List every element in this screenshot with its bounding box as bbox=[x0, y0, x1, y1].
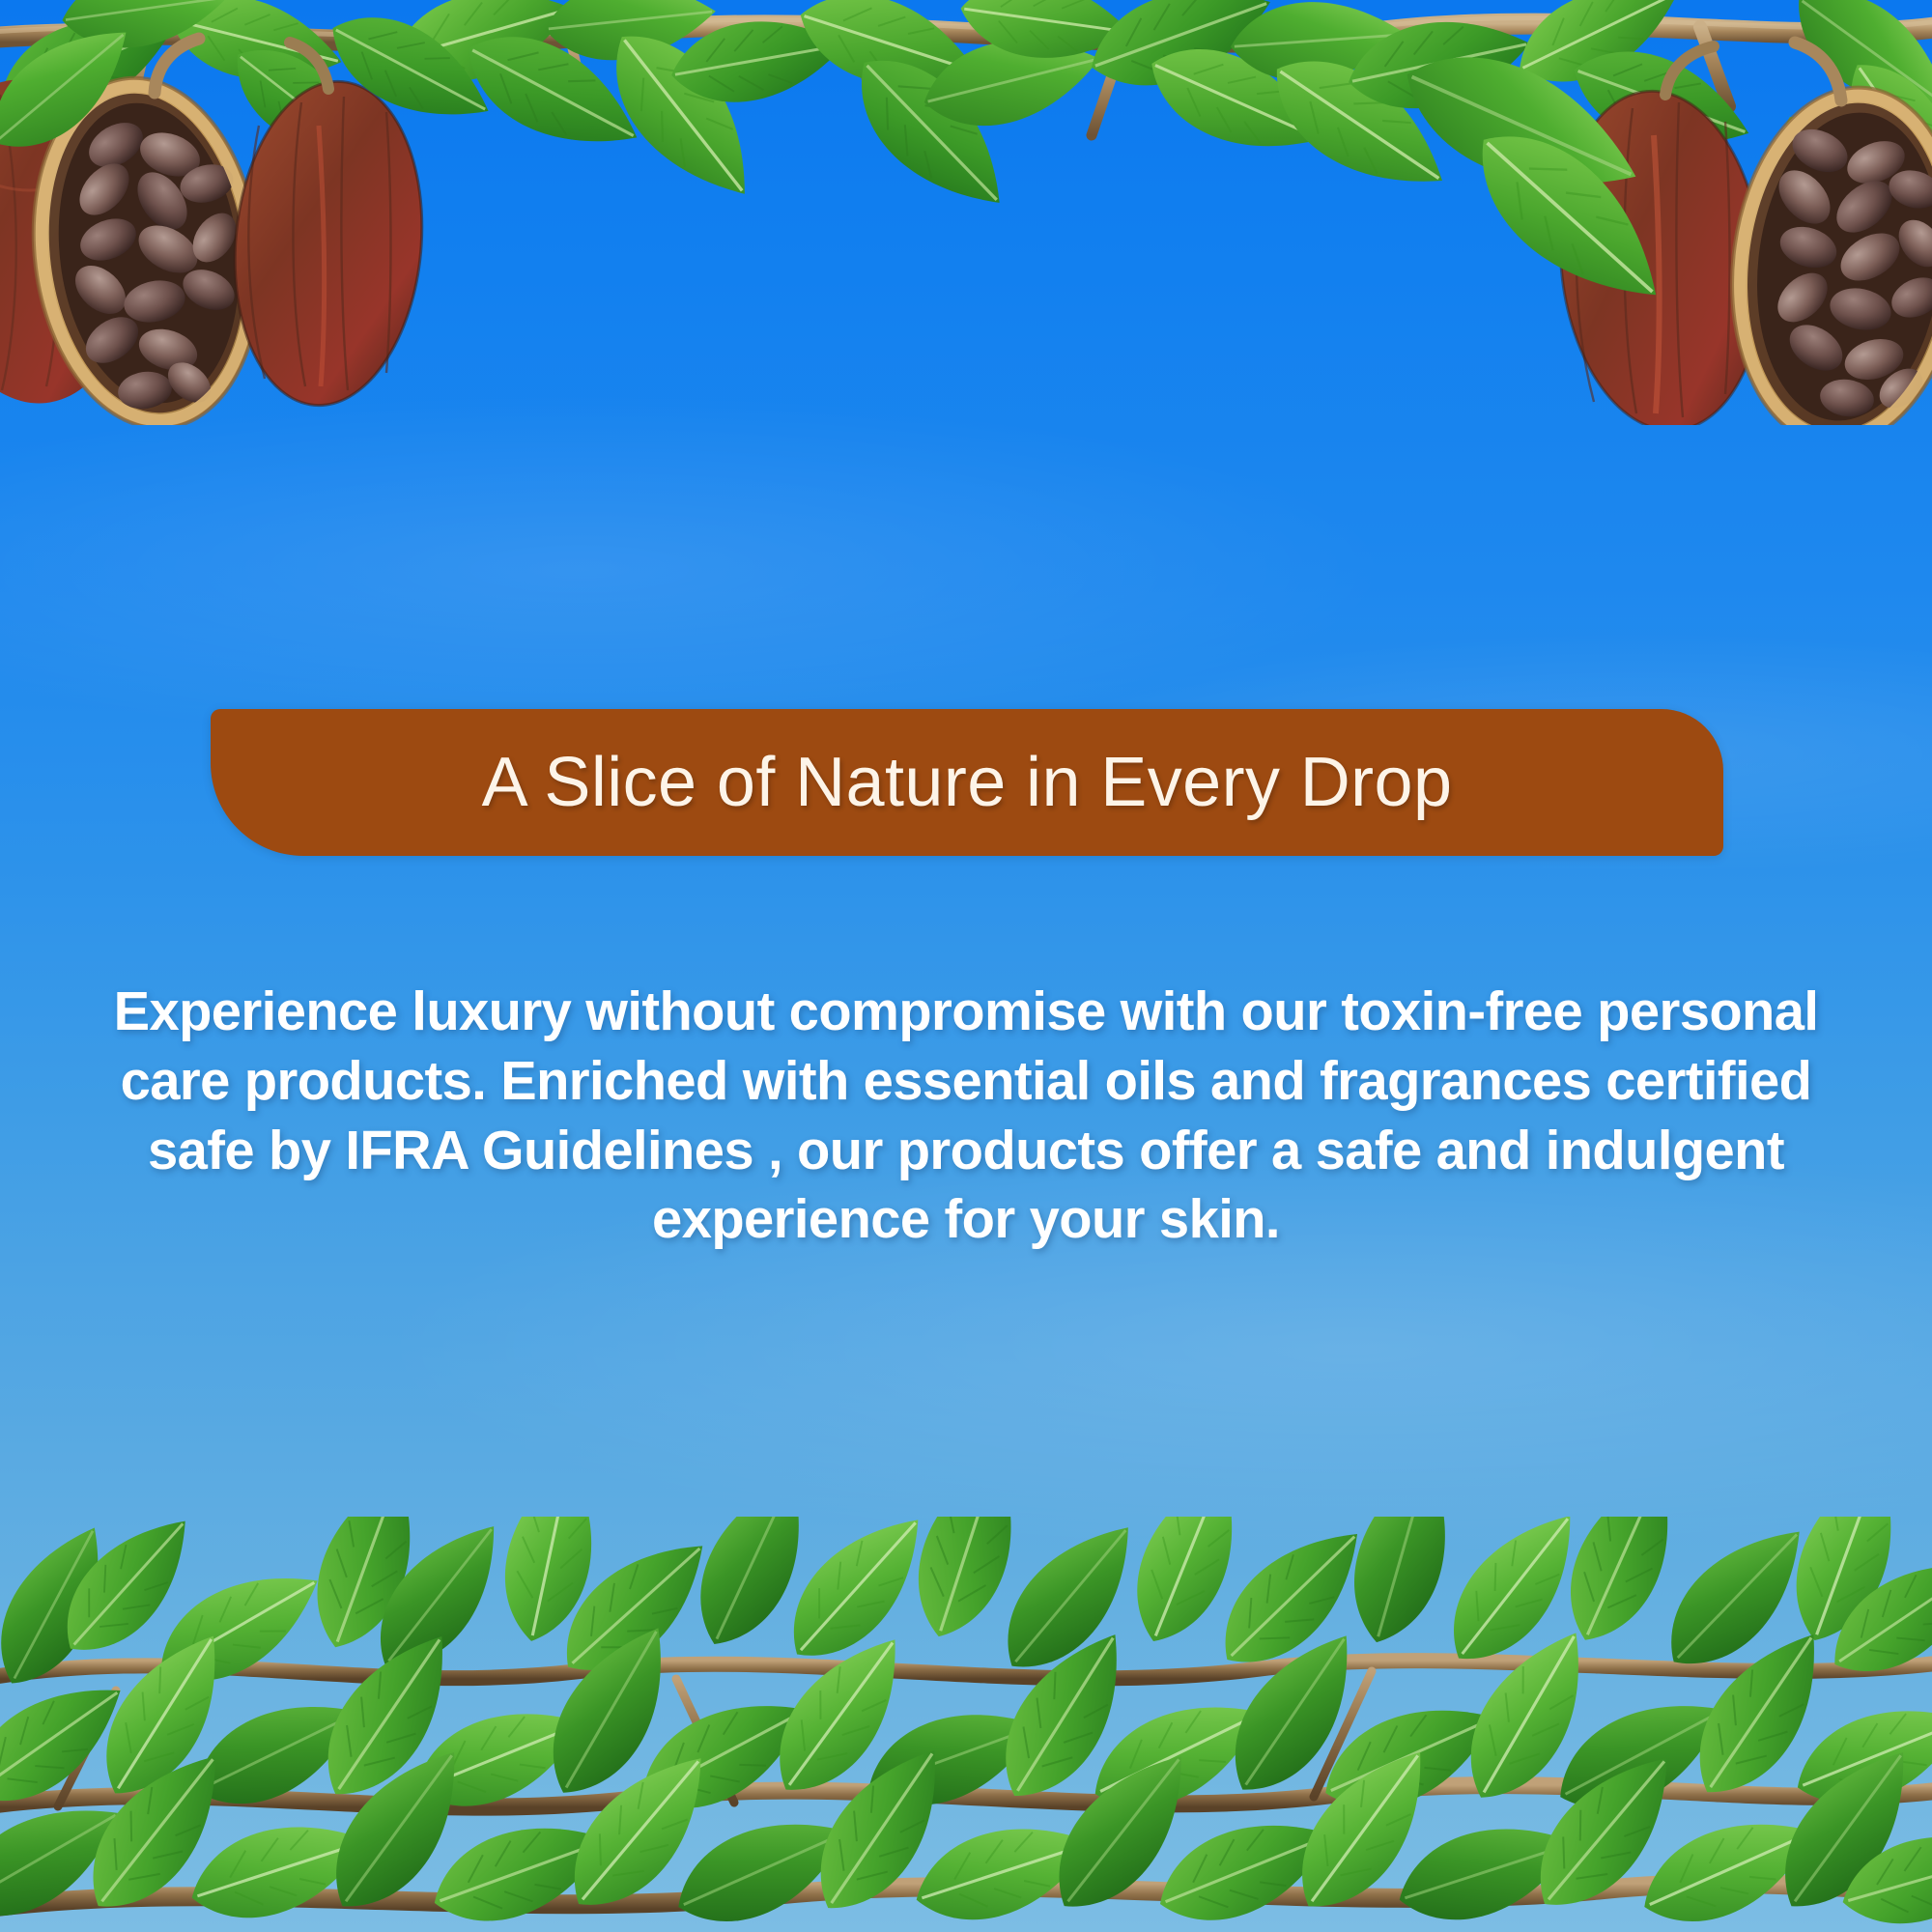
cocoa-pod-open-right bbox=[1715, 76, 1932, 425]
cocoa-pod-closed-left-front bbox=[222, 43, 436, 413]
bottom-flora-svg bbox=[0, 1517, 1932, 1932]
bottom-leafy-branch-decoration bbox=[0, 1517, 1932, 1932]
cocoa-pod-group-right bbox=[1385, 26, 1932, 425]
top-cocoa-branch-decoration bbox=[0, 0, 1932, 425]
page-title: A Slice of Nature in Every Drop bbox=[482, 748, 1453, 817]
bottom-upper-leaf-row bbox=[0, 1517, 1932, 1706]
cocoa-pod-group-left bbox=[0, 0, 507, 425]
bottom-middle-leaf-row bbox=[0, 1607, 1932, 1833]
top-flora-svg bbox=[0, 0, 1932, 425]
cocoa-pod-open-left bbox=[14, 65, 280, 425]
title-banner: A Slice of Nature in Every Drop bbox=[211, 709, 1723, 856]
top-mid-left-leaf-cluster bbox=[383, 0, 852, 221]
cocoa-pod-closed-left bbox=[0, 70, 150, 414]
bottom-branches bbox=[0, 1661, 1932, 1909]
top-left-leaf-cluster bbox=[0, 0, 388, 183]
top-center-leaf-cluster bbox=[787, 0, 1135, 233]
top-mid-right-leaf-cluster bbox=[1077, 0, 1539, 217]
top-right-leaf-cluster bbox=[1502, 0, 1932, 296]
cocoa-pod-closed-right bbox=[1547, 46, 1776, 425]
bottom-lower-leaf-row bbox=[0, 1727, 1932, 1932]
body-paragraph: Experience luxury without compromise wit… bbox=[62, 978, 1870, 1255]
top-branch bbox=[0, 18, 1932, 135]
cocoa-beans-left bbox=[66, 114, 244, 412]
cocoa-beans-right bbox=[1769, 121, 1932, 420]
poster-canvas: A Slice of Nature in Every Drop Experien… bbox=[0, 0, 1932, 1932]
